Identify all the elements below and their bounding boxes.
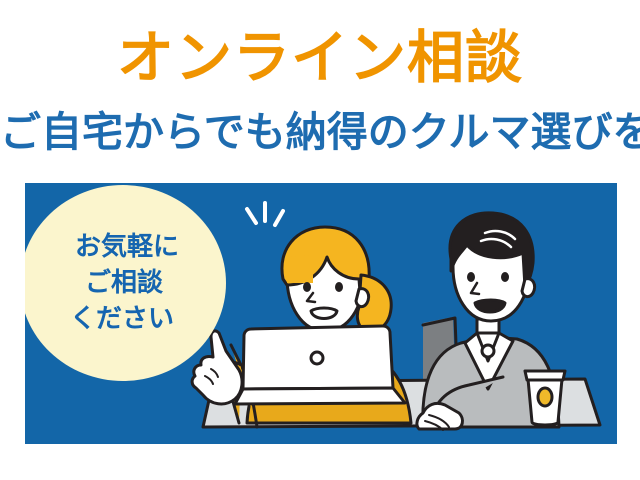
banner: オンライン相談 ご自宅からでも納得のクルマ選びを [0,0,640,480]
page-title: オンライン相談 [0,26,640,90]
laptop-shape [235,326,405,404]
coffee-cup-shape [525,371,565,425]
bubble-line-2: ご相談 [85,265,163,301]
sparkle-lines [247,203,283,225]
bubble-line-3: ください [70,301,174,337]
speech-bubble: お気軽に ご相談 ください [25,185,226,381]
illustration-panel: お気軽に ご相談 ください [25,183,617,444]
bubble-line-1: お気軽に [75,229,179,265]
page-subtitle: ご自宅からでも納得のクルマ選びを [0,107,640,157]
